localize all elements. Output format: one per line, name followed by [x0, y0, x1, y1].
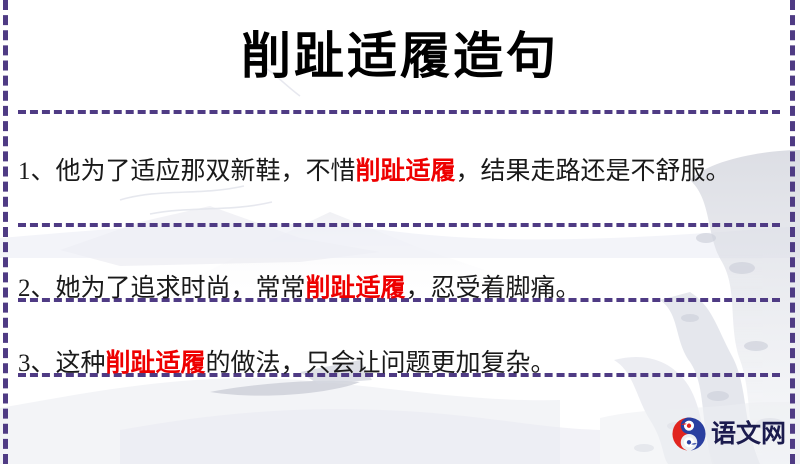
sentence-text-after-1: ，结果走路还是不舒服。: [456, 158, 731, 185]
sentence-text-before-1: 他为了适应那双新鞋，不惜: [56, 158, 356, 185]
example-sentence-1: 1、他为了适应那双新鞋，不惜削趾适履，结果走路还是不舒服。: [18, 151, 784, 192]
sentence-number-1: 1、: [18, 158, 56, 185]
sentence-text-after-2: ，忍受着脚痛。: [406, 275, 581, 302]
divider-below-sentence-1: [18, 223, 780, 227]
sentence-text-before-2: 她为了追求时尚，常常: [56, 275, 306, 302]
idiom-highlight-3: 削趾适履: [106, 350, 206, 377]
frame-edge-left: [3, 0, 8, 464]
idiom-highlight-2: 削趾适履: [306, 275, 406, 302]
example-sentence-3: 3、这种削趾适履的做法，只会让问题更加复杂。: [18, 343, 784, 384]
sentence-text-before-3: 这种: [56, 350, 106, 377]
divider-below-title: [18, 110, 780, 114]
logo-text: 语文网: [711, 420, 786, 448]
sentence-text-after-3: 的做法，只会让问题更加复杂。: [206, 350, 556, 377]
site-logo[interactable]: 语文网: [671, 414, 786, 454]
page-title: 削趾适履造句: [0, 24, 800, 88]
idiom-highlight-1: 削趾适履: [356, 158, 456, 185]
sentence-number-3: 3、: [18, 350, 56, 377]
page-root: 削趾适履造句 1、他为了适应那双新鞋，不惜削趾适履，结果走路还是不舒服。 2、她…: [0, 0, 800, 464]
yinyang-fish-icon: [671, 416, 707, 452]
sentence-number-2: 2、: [18, 275, 56, 302]
example-sentence-2: 2、她为了追求时尚，常常削趾适履，忍受着脚痛。: [18, 268, 784, 309]
frame-edge-right: [790, 0, 795, 464]
